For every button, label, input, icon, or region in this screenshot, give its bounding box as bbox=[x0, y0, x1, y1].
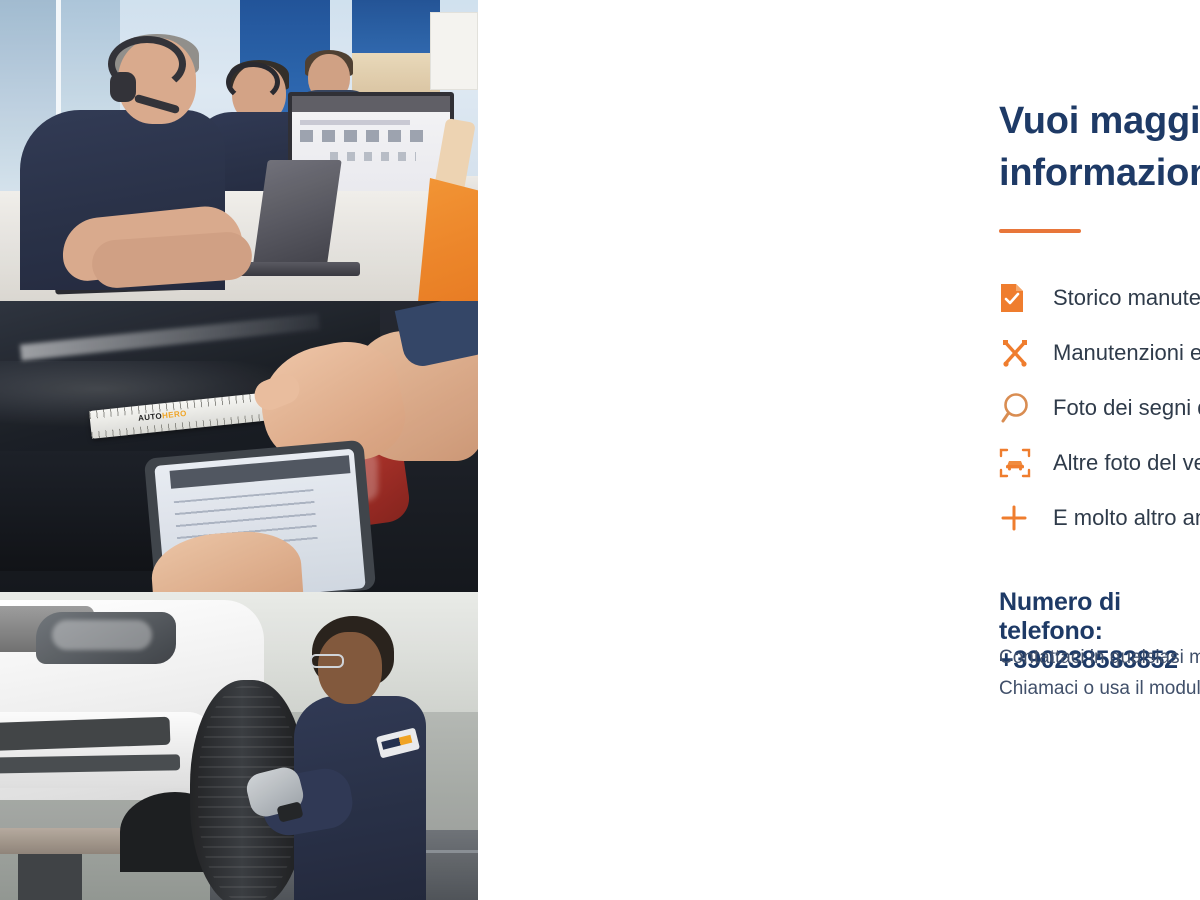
list-item: Foto dei segni di usura bbox=[999, 380, 1200, 435]
photo-column: AUTOHERO bbox=[0, 0, 478, 900]
page-title: Vuoi maggiori informazioni su ? bbox=[999, 96, 1200, 199]
car-scan-icon bbox=[999, 447, 1053, 479]
photo-tint-overlay bbox=[0, 301, 478, 592]
plus-icon bbox=[999, 503, 1053, 533]
list-item: E molto altro ancora bbox=[999, 490, 1200, 545]
tools-cross-icon bbox=[999, 337, 1053, 369]
vehicle-inspection-photo: AUTOHERO bbox=[0, 301, 478, 592]
mechanic-wheel-photo bbox=[0, 592, 478, 900]
list-item: Altre foto del veicolo bbox=[999, 435, 1200, 490]
list-item-label: Foto dei segni di usura bbox=[1053, 395, 1200, 421]
feature-list: Storico manutentivo Manutenzi bbox=[999, 270, 1200, 545]
photo-tint-overlay bbox=[0, 0, 478, 301]
promo-banner: AUTOHERO bbox=[0, 0, 1200, 900]
call-center-agents-photo bbox=[0, 0, 478, 301]
contact-line-two: Chiamaci o usa il modulo di contatto. bbox=[999, 674, 1200, 705]
list-item-label: Storico manutentivo bbox=[1053, 285, 1200, 311]
document-check-icon bbox=[999, 283, 1053, 313]
list-item-label: E molto altro ancora bbox=[1053, 505, 1200, 531]
list-item-label: Manutenzioni effettuate bbox=[1053, 340, 1200, 366]
contact-line-one: Contattaci in qualsiasi momento per ulte… bbox=[999, 643, 1200, 674]
contact-description: Contattaci in qualsiasi momento per ulte… bbox=[999, 643, 1200, 705]
list-item: Manutenzioni effettuate bbox=[999, 325, 1200, 380]
magnifier-icon bbox=[999, 392, 1053, 424]
title-underline-rule bbox=[999, 229, 1081, 233]
photo-tint-overlay bbox=[0, 592, 478, 900]
content-panel: Vuoi maggiori informazioni su ? Saremo f… bbox=[478, 0, 1200, 900]
list-item-label: Altre foto del veicolo bbox=[1053, 450, 1200, 476]
list-item: Storico manutentivo bbox=[999, 270, 1200, 325]
